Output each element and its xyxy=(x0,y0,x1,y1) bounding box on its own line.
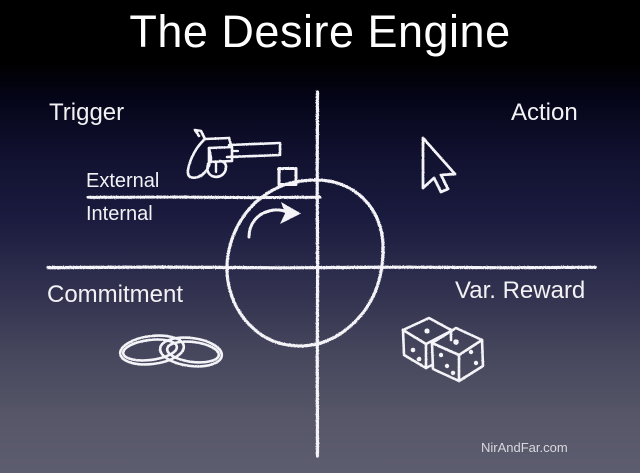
quadrant-label-var-reward: Var. Reward xyxy=(455,277,585,305)
quadrant-label-commitment: Commitment xyxy=(47,281,183,309)
slide-canvas: The Desire Engine Trigger Action Commitm… xyxy=(0,0,640,473)
trigger-type-external: External xyxy=(86,170,159,193)
quadrant-label-trigger: Trigger xyxy=(49,99,124,127)
revolver-icon xyxy=(188,130,280,178)
site-watermark: NirAndFar.com xyxy=(481,440,568,455)
cycle-circle xyxy=(227,180,383,346)
page-title: The Desire Engine xyxy=(0,3,640,61)
cursor-arrow-icon xyxy=(423,138,455,192)
diagram-artwork xyxy=(0,0,640,473)
trigger-type-internal: Internal xyxy=(86,203,153,226)
interlocking-rings-icon xyxy=(119,332,224,369)
external-internal-divider-line xyxy=(88,197,320,198)
dice-icon xyxy=(403,318,483,381)
clockwise-cycle-arrow xyxy=(249,202,301,237)
horizontal-axis-line xyxy=(48,267,595,268)
quadrant-label-action: Action xyxy=(511,99,578,127)
